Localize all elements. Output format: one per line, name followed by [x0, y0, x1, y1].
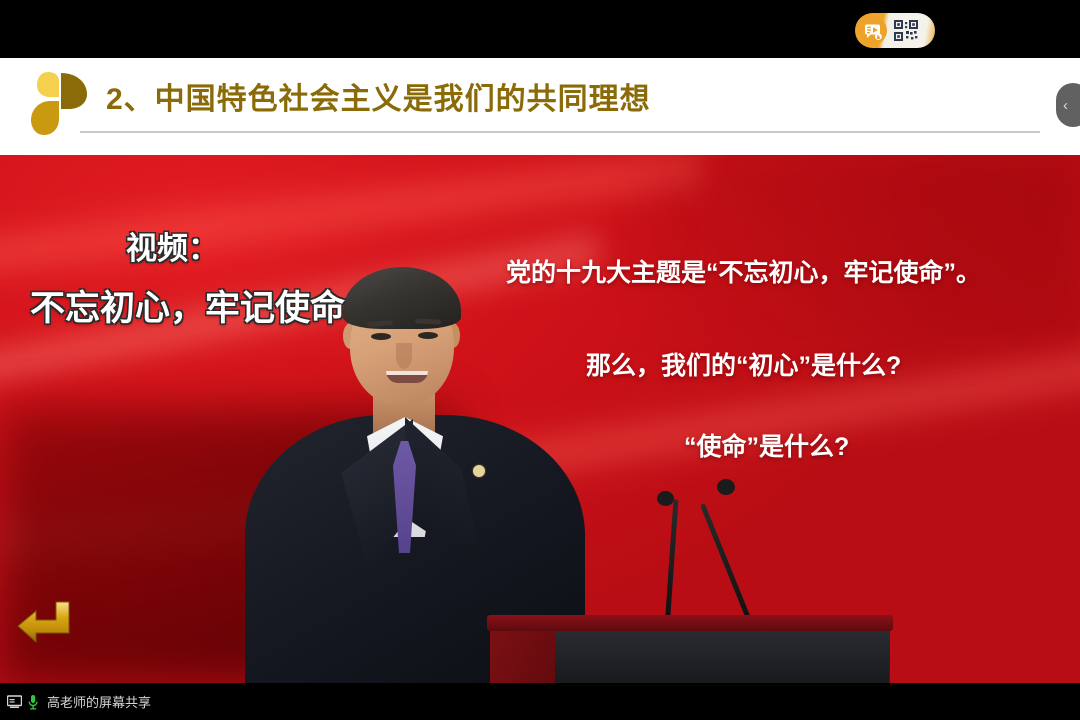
collapse-panel-button[interactable]: ‹	[1056, 83, 1080, 127]
page-title: 2、中国特色社会主义是我们的共同理想	[106, 74, 651, 118]
theme-statement: 党的十九大主题是“不忘初心，牢记使命”。	[506, 253, 981, 289]
slide-canvas: 视频： 不忘初心，牢记使命 党的十九大主题是“不忘初心，牢记使命”。 那么，我们…	[0, 155, 1080, 683]
video-chat-bubble-icon	[858, 16, 887, 45]
qr-code-icon	[893, 19, 920, 43]
microphone-head	[717, 479, 735, 495]
screen-root: 2、中国特色社会主义是我们的共同理想 ‹	[0, 0, 1080, 720]
microphone-icon	[27, 694, 39, 710]
status-bar: 高老师的屏幕共享	[0, 683, 1080, 720]
podium-top	[487, 615, 893, 631]
video-label: 视频：	[126, 223, 219, 268]
speaker-mouth	[386, 371, 428, 383]
speaker-eye	[371, 333, 391, 340]
speaker-hair	[343, 267, 461, 329]
return-arrow-icon[interactable]	[16, 598, 74, 648]
monitor-share-icon	[7, 695, 22, 709]
share-status-text: 高老师的屏幕共享	[47, 692, 151, 711]
podium-side	[490, 629, 556, 683]
clover-logo-icon	[28, 71, 90, 137]
lapel-pin	[473, 465, 485, 477]
question-two: “使命”是什么?	[684, 427, 849, 463]
title-divider	[80, 131, 1040, 133]
microphone-head	[657, 491, 674, 506]
background-shade	[648, 155, 1080, 345]
slide-header: 2、中国特色社会主义是我们的共同理想	[0, 58, 1080, 155]
question-one: 那么，我们的“初心”是什么?	[586, 346, 901, 382]
speaker-nose	[396, 343, 412, 369]
speaker-eye	[418, 332, 438, 339]
video-title: 不忘初心，牢记使命	[30, 280, 345, 331]
chevron-left-icon: ‹	[1063, 97, 1068, 114]
screen-share-badge[interactable]	[855, 13, 935, 48]
podium-panel	[555, 629, 889, 683]
